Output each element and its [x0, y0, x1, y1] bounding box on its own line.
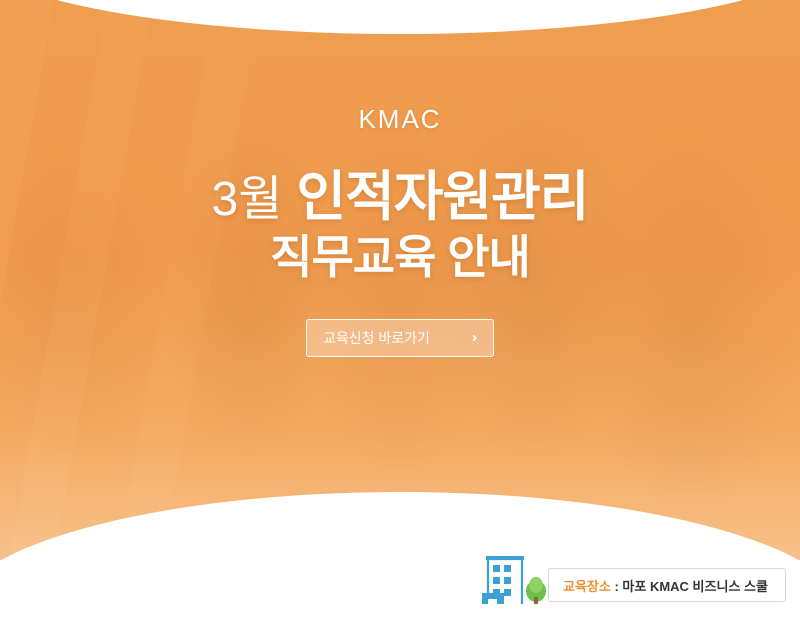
headline-line-1: 3월 인적자원관리	[0, 169, 800, 226]
bottom-spacer	[0, 604, 800, 618]
hero-banner: KMAC 3월 인적자원관리 직무교육 안내 교육신청 바로가기 ›	[0, 0, 800, 560]
apply-training-button[interactable]: 교육신청 바로가기 ›	[306, 319, 494, 357]
venue-label: 교육장소	[563, 579, 611, 594]
cta-label: 교육신청 바로가기	[323, 328, 430, 348]
venue-info-bar: 교육장소 : 마포 KMAC 비즈니스 스쿨	[548, 568, 786, 602]
cta-container: 교육신청 바로가기 ›	[0, 319, 800, 357]
chevron-right-icon: ›	[472, 330, 477, 345]
headline-line-2: 직무교육 안내	[0, 232, 800, 283]
hero-content: KMAC 3월 인적자원관리 직무교육 안내 교육신청 바로가기 ›	[0, 0, 800, 357]
venue-separator: :	[611, 579, 623, 594]
brand-logo: KMAC	[0, 104, 800, 135]
venue-text: 교육장소 : 마포 KMAC 비즈니스 스쿨	[563, 576, 768, 595]
promo-page: KMAC 3월 인적자원관리 직무교육 안내 교육신청 바로가기 ›	[0, 0, 800, 618]
venue-value: 마포 KMAC 비즈니스 스쿨	[622, 579, 768, 594]
headline-month: 3월	[212, 173, 283, 226]
headline-topic: 인적자원관리	[296, 167, 588, 227]
